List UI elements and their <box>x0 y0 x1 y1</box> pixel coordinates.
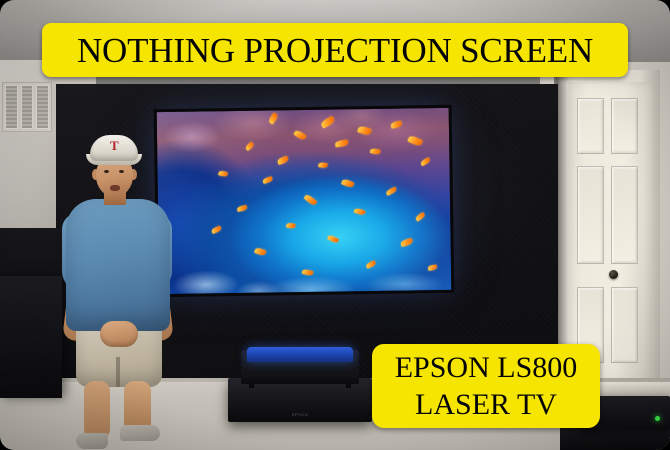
door-panel <box>611 98 638 154</box>
fish <box>286 222 296 228</box>
screen-image-reef <box>157 108 452 294</box>
projector-top-glow <box>247 347 353 362</box>
fish <box>304 194 318 207</box>
bottom-caption: EPSON LS800 LASER TV <box>372 344 600 428</box>
shorts-seam <box>116 357 120 387</box>
eye-right <box>119 170 124 173</box>
projector-foot <box>346 382 351 388</box>
projector-brand-mark: EPSON <box>292 412 308 417</box>
projector-foot <box>249 382 254 388</box>
top-banner: NOTHING PROJECTION SCREEN <box>42 23 628 77</box>
leg-left <box>84 381 110 439</box>
sock-right <box>120 425 160 441</box>
door-knob <box>609 270 618 279</box>
t-shirt <box>66 199 170 331</box>
door-panel <box>577 98 604 154</box>
blind-slat <box>21 85 34 129</box>
video-thumbnail: EPSON T NOTHING PROJECT <box>0 0 670 450</box>
interior-door <box>568 82 652 384</box>
blind-slat <box>36 85 49 129</box>
fish <box>353 208 365 216</box>
caption-line-2: LASER TV <box>415 387 557 422</box>
door-panel <box>577 166 604 264</box>
left-speaker-cabinet <box>0 276 62 398</box>
fish <box>236 204 247 211</box>
clasped-hands <box>100 321 138 347</box>
mouth <box>110 185 120 191</box>
eye-left <box>104 170 109 173</box>
cap-logo: T <box>110 139 119 152</box>
projection-screen <box>157 108 452 294</box>
caption-line-1: EPSON LS800 <box>395 350 578 385</box>
door-panel <box>611 166 638 264</box>
right-av-shelf <box>560 428 670 450</box>
sock-left <box>76 433 108 449</box>
door-panel <box>611 287 638 363</box>
fish <box>415 211 426 221</box>
window-blinds <box>2 82 52 132</box>
reef-coral-top <box>157 108 450 196</box>
blind-slat <box>5 85 18 129</box>
fish <box>318 162 328 168</box>
presenter: T <box>62 135 174 450</box>
top-banner-text: NOTHING PROJECTION SCREEN <box>77 33 593 68</box>
power-led-indicator <box>655 416 660 421</box>
